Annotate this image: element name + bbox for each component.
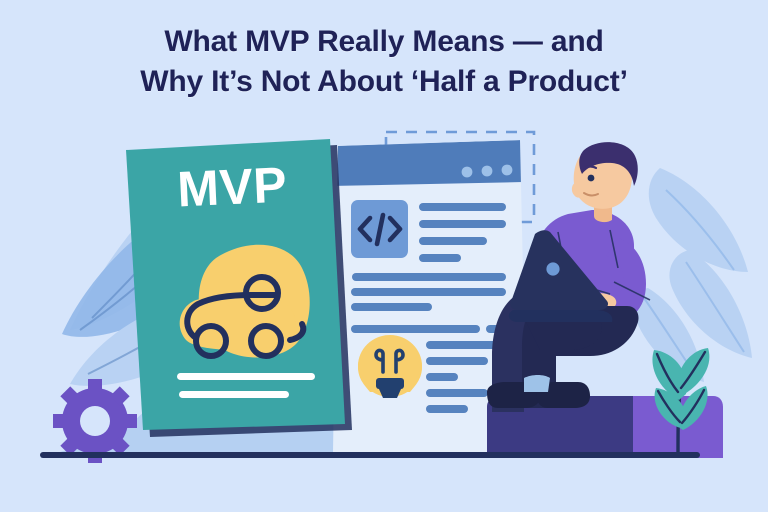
mvp-card-label: MVP [176, 157, 288, 218]
mvp-card: MVP [126, 139, 352, 437]
window-dot [502, 165, 513, 176]
card-caption-line [179, 391, 289, 398]
illustration-canvas: MVP [0, 0, 768, 512]
page-title-line-2: Why It’s Not About ‘Half a Product’ [28, 62, 740, 102]
ground-line [40, 452, 700, 458]
browser-titlebar [330, 140, 526, 186]
card-caption-line [177, 373, 315, 380]
page-title-line-1: What MVP Really Means — and [28, 22, 740, 62]
gear-icon [53, 379, 137, 463]
laptop-base [509, 310, 613, 322]
laptop-logo [546, 262, 559, 275]
window-dot [482, 166, 493, 177]
page-title: What MVP Really Means — and Why It’s Not… [0, 22, 768, 102]
window-dot [462, 167, 473, 178]
lightbulb-icon [358, 335, 422, 398]
